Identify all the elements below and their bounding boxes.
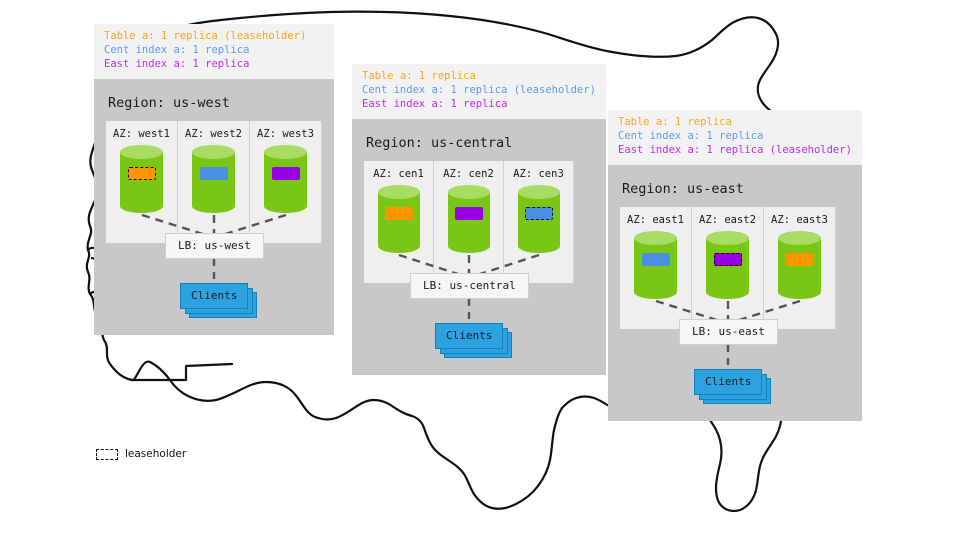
database-node-icon (778, 231, 821, 299)
clients-label: Clients (180, 283, 248, 309)
database-node-icon (264, 145, 307, 213)
region-title: Region: us-central (366, 135, 594, 151)
region-panel-us-west: Table a: 1 replica (leaseholder)Cent ind… (94, 24, 334, 335)
az-label: AZ: cen1 (364, 168, 433, 180)
region-body-us-west: Region: us-west AZ: west1 AZ: west2 (94, 79, 334, 335)
node-wrap (178, 145, 249, 217)
replica-legend-us-west: Table a: 1 replica (leaseholder)Cent ind… (94, 24, 334, 79)
az-label: AZ: east3 (764, 214, 835, 226)
region-title: Region: us-west (108, 95, 322, 111)
az-label: AZ: cen3 (504, 168, 573, 180)
node-wrap (364, 185, 433, 257)
az-row: AZ: west1 AZ: west2 (106, 121, 322, 243)
diagram-canvas: Table a: 1 replica (leaseholder)Cent ind… (0, 0, 960, 540)
replica-band-leaseholder (525, 207, 553, 220)
node-wrap (434, 185, 503, 257)
clients-box-us-east[interactable]: Clients (694, 369, 762, 395)
replica-line: Cent index a: 1 replica (104, 44, 324, 58)
database-node-icon (634, 231, 677, 299)
replica-line: Table a: 1 replica (362, 70, 596, 84)
replica-line: Cent index a: 1 replica (618, 130, 852, 144)
replica-line: East index a: 1 replica (104, 58, 324, 72)
region-panel-us-central: Table a: 1 replicaCent index a: 1 replic… (352, 64, 606, 375)
clients-label: Clients (694, 369, 762, 395)
replica-band (200, 167, 228, 180)
replica-legend-us-central: Table a: 1 replicaCent index a: 1 replic… (352, 64, 606, 119)
replica-legend-us-east: Table a: 1 replicaCent index a: 1 replic… (608, 110, 862, 165)
replica-line: East index a: 1 replica (362, 98, 596, 112)
leaseholder-legend: leaseholder (96, 448, 186, 460)
node-wrap (250, 145, 321, 217)
node-wrap (692, 231, 763, 303)
node-wrap (106, 145, 177, 217)
region-panel-us-east: Table a: 1 replicaCent index a: 1 replic… (608, 110, 862, 421)
lb-zone: LB: us-central Clients (364, 283, 594, 361)
clients-box-us-central[interactable]: Clients (435, 323, 503, 349)
clients-box-us-west[interactable]: Clients (180, 283, 248, 309)
region-body-us-east: Region: us-east AZ: east1 AZ: east2 (608, 165, 862, 421)
leaseholder-legend-label: leaseholder (125, 448, 186, 460)
replica-line: Cent index a: 1 replica (leaseholder) (362, 84, 596, 98)
az-label: AZ: west1 (106, 128, 177, 140)
replica-band-leaseholder (128, 167, 156, 180)
node-wrap (620, 231, 691, 303)
az-row: AZ: east1 AZ: east2 (620, 207, 836, 329)
load-balancer-us-central[interactable]: LB: us-central (410, 273, 529, 299)
database-node-icon (378, 185, 420, 253)
az-label: AZ: west3 (250, 128, 321, 140)
region-body-us-central: Region: us-central AZ: cen1 AZ: cen2 (352, 119, 606, 375)
replica-band (786, 253, 814, 266)
replica-band (642, 253, 670, 266)
load-balancer-us-west[interactable]: LB: us-west (165, 233, 264, 259)
replica-line: Table a: 1 replica (leaseholder) (104, 30, 324, 44)
replica-band-leaseholder (714, 253, 742, 266)
replica-band (272, 167, 300, 180)
az-label: AZ: east1 (620, 214, 691, 226)
replica-line: Table a: 1 replica (618, 116, 852, 130)
replica-line: East index a: 1 replica (leaseholder) (618, 144, 852, 158)
az-label: AZ: cen2 (434, 168, 503, 180)
lb-zone: LB: us-west Clients (106, 243, 322, 321)
node-wrap (764, 231, 835, 303)
dashed-rect-icon (96, 449, 118, 460)
replica-band (455, 207, 483, 220)
replica-band (385, 207, 413, 220)
database-node-icon (706, 231, 749, 299)
clients-label: Clients (435, 323, 503, 349)
load-balancer-us-east[interactable]: LB: us-east (679, 319, 778, 345)
lb-zone: LB: us-east Clients (620, 329, 850, 407)
region-title: Region: us-east (622, 181, 850, 197)
node-wrap (504, 185, 573, 257)
az-row: AZ: cen1 AZ: cen2 (364, 161, 574, 283)
database-node-icon (448, 185, 490, 253)
database-node-icon (518, 185, 560, 253)
az-label: AZ: west2 (178, 128, 249, 140)
database-node-icon (192, 145, 235, 213)
database-node-icon (120, 145, 163, 213)
az-label: AZ: east2 (692, 214, 763, 226)
